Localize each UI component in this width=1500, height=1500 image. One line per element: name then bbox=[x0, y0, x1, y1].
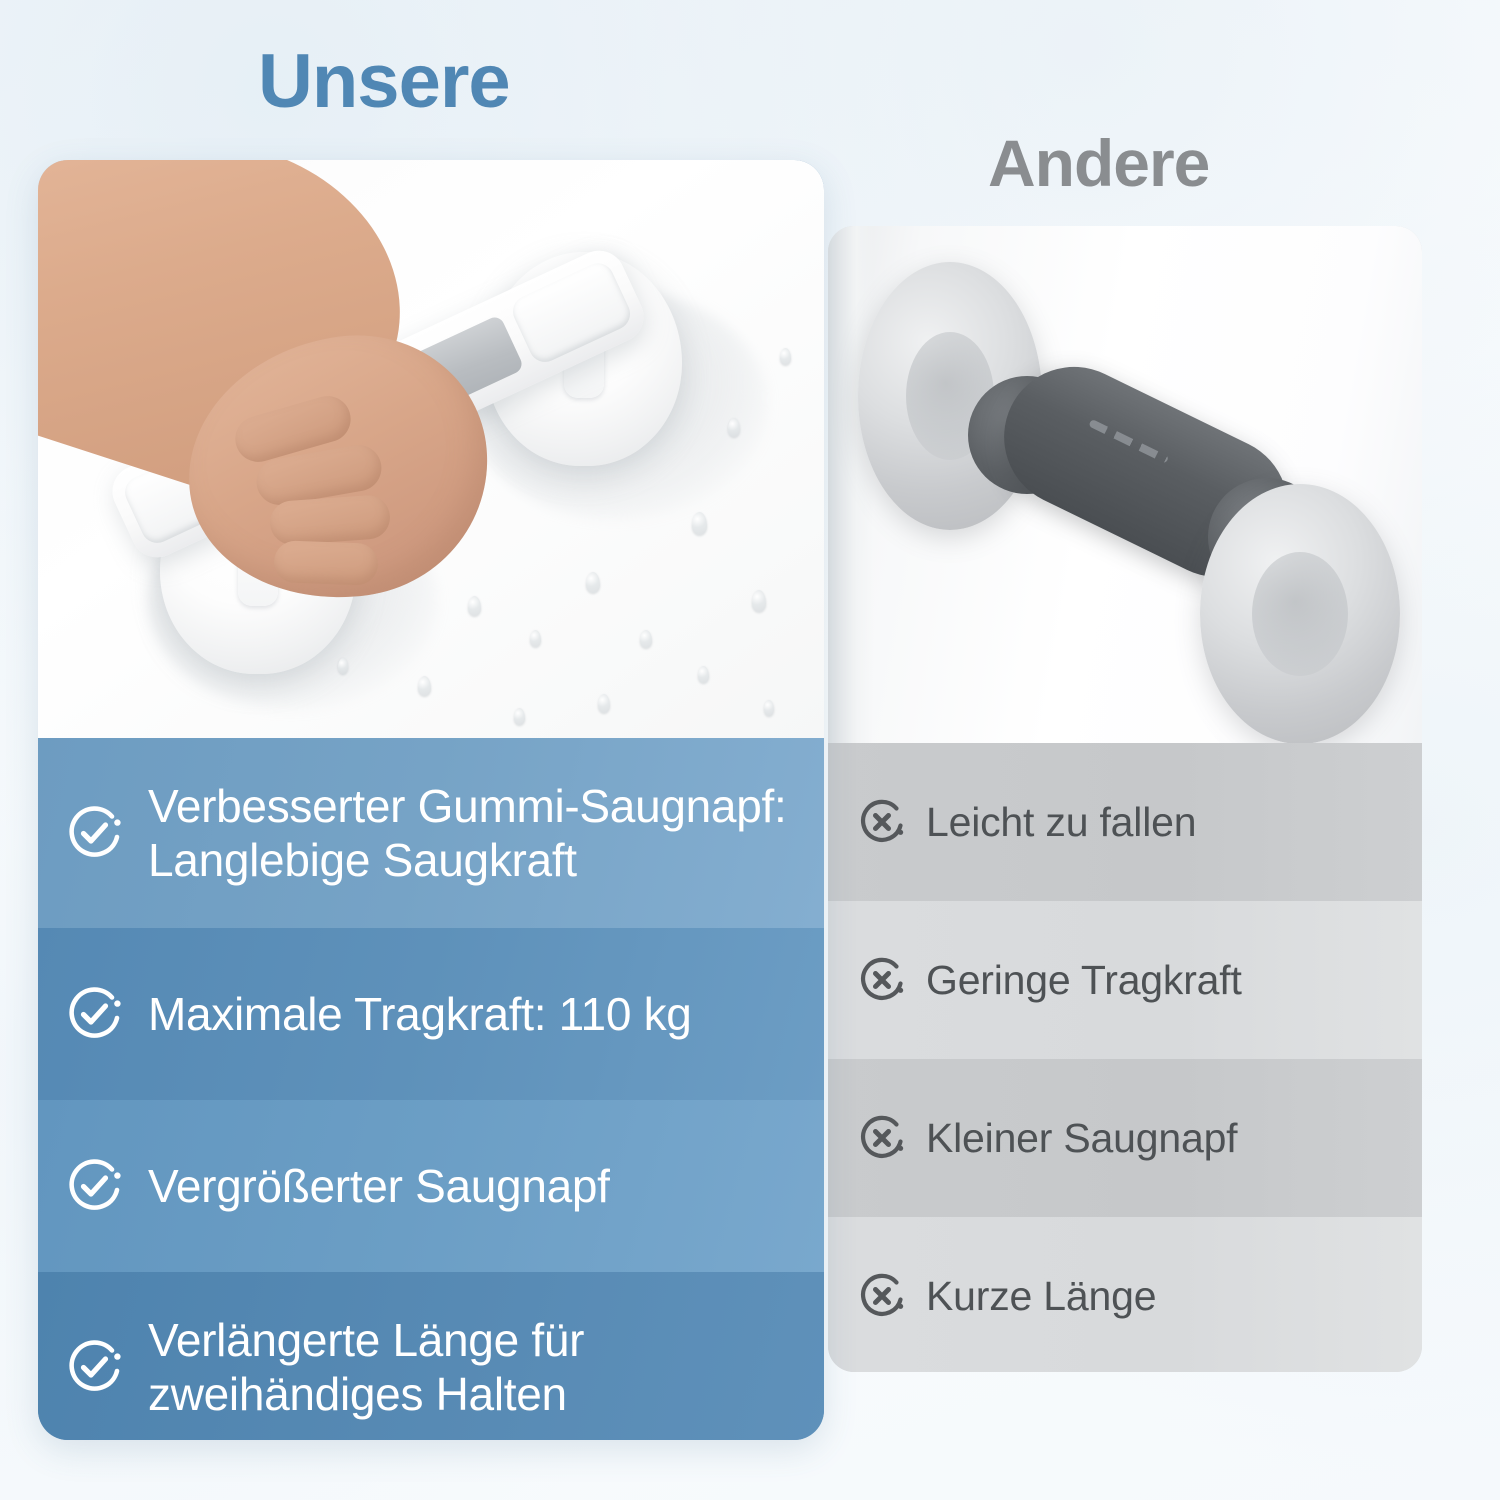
check-circle-icon bbox=[62, 1335, 126, 1399]
water-droplet bbox=[598, 694, 610, 713]
ours-feature-list: Verbesserter Gummi-Saugnapf: Langlebige … bbox=[38, 738, 824, 1440]
others-feature-label: Kurze Länge bbox=[926, 1272, 1156, 1320]
ours-feature-label: Vergrößerter Saugnapf bbox=[148, 1159, 610, 1213]
page-title-ours: Unsere bbox=[258, 44, 510, 120]
others-feature-row: Kurze Länge bbox=[828, 1217, 1422, 1372]
others-feature-label: Geringe Tragkraft bbox=[926, 956, 1242, 1004]
ours-feature-row: Vergrößerter Saugnapf bbox=[38, 1100, 824, 1272]
x-circle-icon bbox=[856, 954, 908, 1006]
ours-feature-row: Verbesserter Gummi-Saugnapf: Langlebige … bbox=[38, 738, 824, 928]
others-feature-row: Kleiner Saugnapf bbox=[828, 1059, 1422, 1217]
finger bbox=[273, 540, 378, 586]
water-droplet bbox=[698, 666, 709, 683]
water-droplet bbox=[764, 700, 774, 716]
ours-feature-label: Maximale Tragkraft: 110 kg bbox=[148, 987, 692, 1041]
finger bbox=[269, 494, 392, 546]
water-droplet bbox=[514, 708, 525, 725]
water-droplet bbox=[780, 348, 791, 365]
ours-feature-row: Maximale Tragkraft: 110 kg bbox=[38, 928, 824, 1100]
x-circle-icon bbox=[856, 796, 908, 848]
page-title-others: Andere bbox=[988, 130, 1209, 196]
water-droplet bbox=[692, 512, 707, 535]
ours-panel: Verbesserter Gummi-Saugnapf: Langlebige … bbox=[38, 160, 824, 1440]
water-droplet bbox=[640, 630, 652, 648]
water-droplet bbox=[728, 418, 740, 437]
ours-feature-row: Verlängerte Länge für zweihändiges Halte… bbox=[38, 1272, 824, 1440]
others-feature-row: Geringe Tragkraft bbox=[828, 901, 1422, 1059]
others-panel: Leicht zu fallen Geringe Tragkraft K bbox=[828, 226, 1422, 1372]
water-droplet bbox=[338, 658, 348, 674]
x-circle-icon bbox=[856, 1112, 908, 1164]
product-photo-others bbox=[828, 226, 1422, 743]
suction-cup-icon bbox=[1200, 484, 1400, 743]
water-droplet bbox=[530, 630, 541, 647]
check-circle-icon bbox=[62, 801, 126, 865]
others-feature-label: Kleiner Saugnapf bbox=[926, 1114, 1237, 1162]
water-droplet bbox=[752, 590, 766, 612]
ours-feature-label: Verlängerte Länge für zweihändiges Halte… bbox=[148, 1313, 584, 1422]
ours-feature-label: Verbesserter Gummi-Saugnapf: Langlebige … bbox=[148, 779, 786, 888]
water-droplet bbox=[586, 572, 600, 593]
others-feature-row: Leicht zu fallen bbox=[828, 743, 1422, 901]
others-feature-list: Leicht zu fallen Geringe Tragkraft K bbox=[828, 743, 1422, 1372]
water-droplet bbox=[418, 676, 431, 696]
x-circle-icon bbox=[856, 1270, 908, 1322]
others-feature-label: Leicht zu fallen bbox=[926, 798, 1196, 846]
product-photo-ours bbox=[38, 160, 824, 738]
check-circle-icon bbox=[62, 982, 126, 1046]
water-droplet bbox=[468, 596, 481, 616]
check-circle-icon bbox=[62, 1154, 126, 1218]
